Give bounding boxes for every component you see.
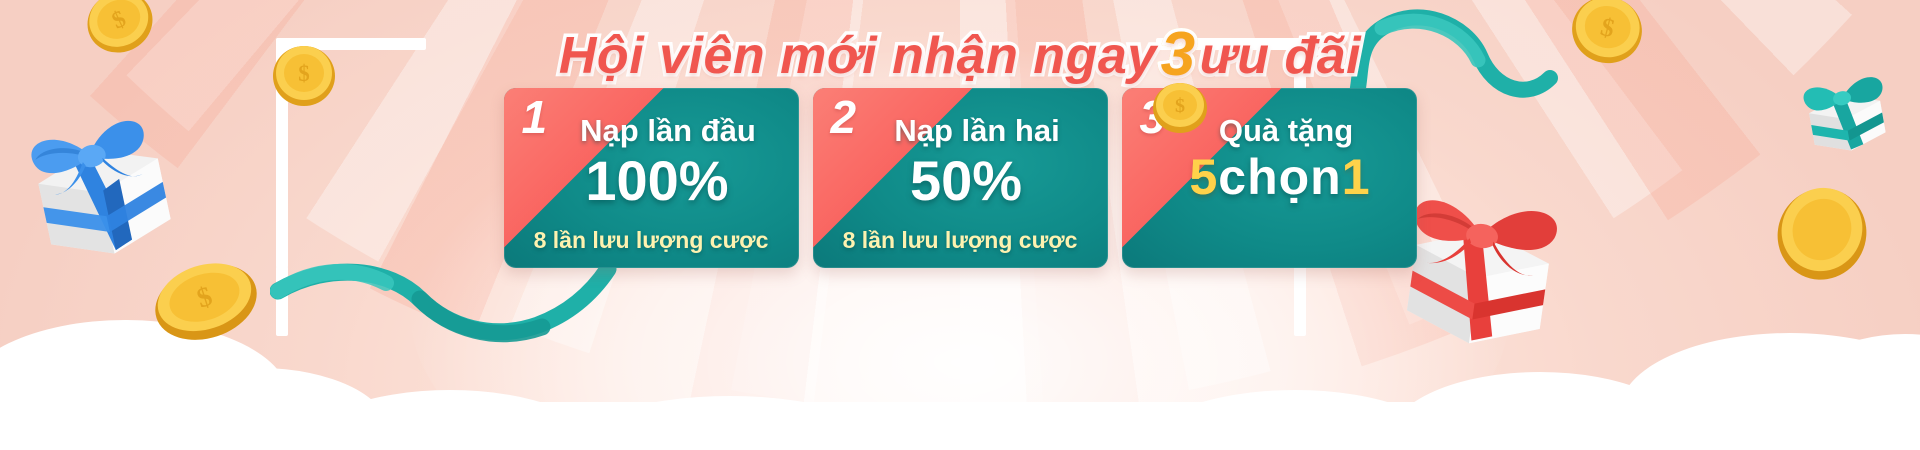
title-part-2: ưu đãi (1200, 27, 1361, 85)
title-part-1: Hội viên mới nhận ngay (559, 27, 1157, 85)
card-title: Nạp lần hai (894, 114, 1059, 148)
card-number: 2 (831, 94, 857, 140)
offer-card[interactable]: 1 Nạp lần đầu 100% 8 lần lưu lượng cược (504, 88, 799, 268)
offer-card[interactable]: 2 Nạp lần hai 50% 8 lần lưu lượng cược (813, 88, 1108, 268)
card-value: 100% (585, 150, 728, 212)
banner-title: Hội viên mới nhận ngay3ưu đãi (0, 16, 1920, 94)
card-title: Nạp lần đầu (580, 114, 756, 148)
frame-corner-bottom-right-vertical (1294, 266, 1306, 336)
card-value: 50% (910, 150, 1022, 212)
card-title: Quà tặng (1219, 114, 1353, 148)
promo-banner: $ $ $ $ $ Hội viên mới nhận ngay3ưu đãi (0, 0, 1920, 450)
svg-text:$: $ (1175, 95, 1185, 117)
card-number: 1 (522, 94, 548, 140)
card-value-suffix: 1 (1342, 149, 1371, 205)
card-value-prefix: 5 (1189, 149, 1218, 205)
card-value-middle: chọn (1218, 149, 1341, 205)
card-note: 8 lần lưu lượng cược (504, 227, 799, 254)
title-text: Hội viên mới nhận ngay3ưu đãi (559, 16, 1361, 94)
card-note: 8 lần lưu lượng cược (813, 227, 1108, 254)
card-value: 5chọn1 (1189, 150, 1370, 205)
teal-ribbon-streamer (270, 255, 630, 365)
offer-card-list: 1 Nạp lần đầu 100% 8 lần lưu lượng cược … (0, 88, 1920, 268)
title-highlight-number: 3 (1157, 20, 1200, 89)
